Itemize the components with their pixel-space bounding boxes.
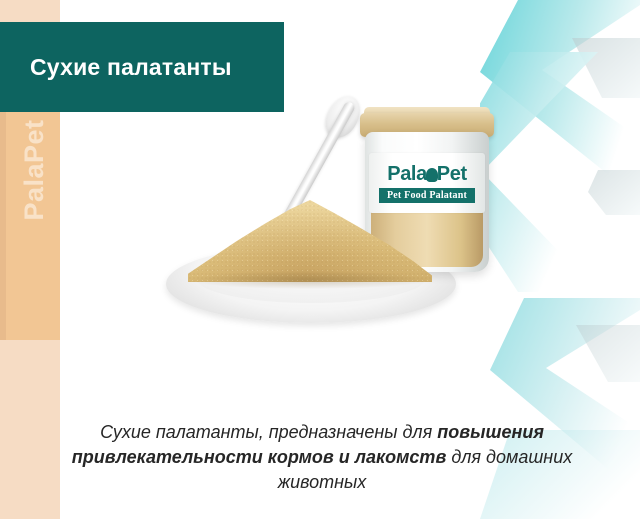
jar-brand-part1: Pala [387, 163, 427, 185]
sidebar-watermark-palapet: PalaPet [14, 100, 54, 240]
powder-mound-shadow [190, 271, 428, 289]
caption-segment-1: Сухие палатанты, предназначены для [100, 422, 437, 442]
jar-brand-part2: Pet [437, 163, 467, 185]
slide-canvas: PalaPet [0, 0, 640, 519]
product-photo: PalaPet Pet Food Palatant [150, 95, 550, 335]
page-title: Сухие палатанты [30, 54, 232, 81]
title-banner: Сухие палатанты [0, 22, 284, 112]
jar-brand-logo: PalaPet [387, 164, 466, 184]
jar-label-subtitle: Pet Food Palatant [379, 188, 475, 203]
caption-text: Сухие палатанты, предназначены для повыш… [62, 420, 582, 494]
jar-label: PalaPet Pet Food Palatant [369, 153, 485, 213]
